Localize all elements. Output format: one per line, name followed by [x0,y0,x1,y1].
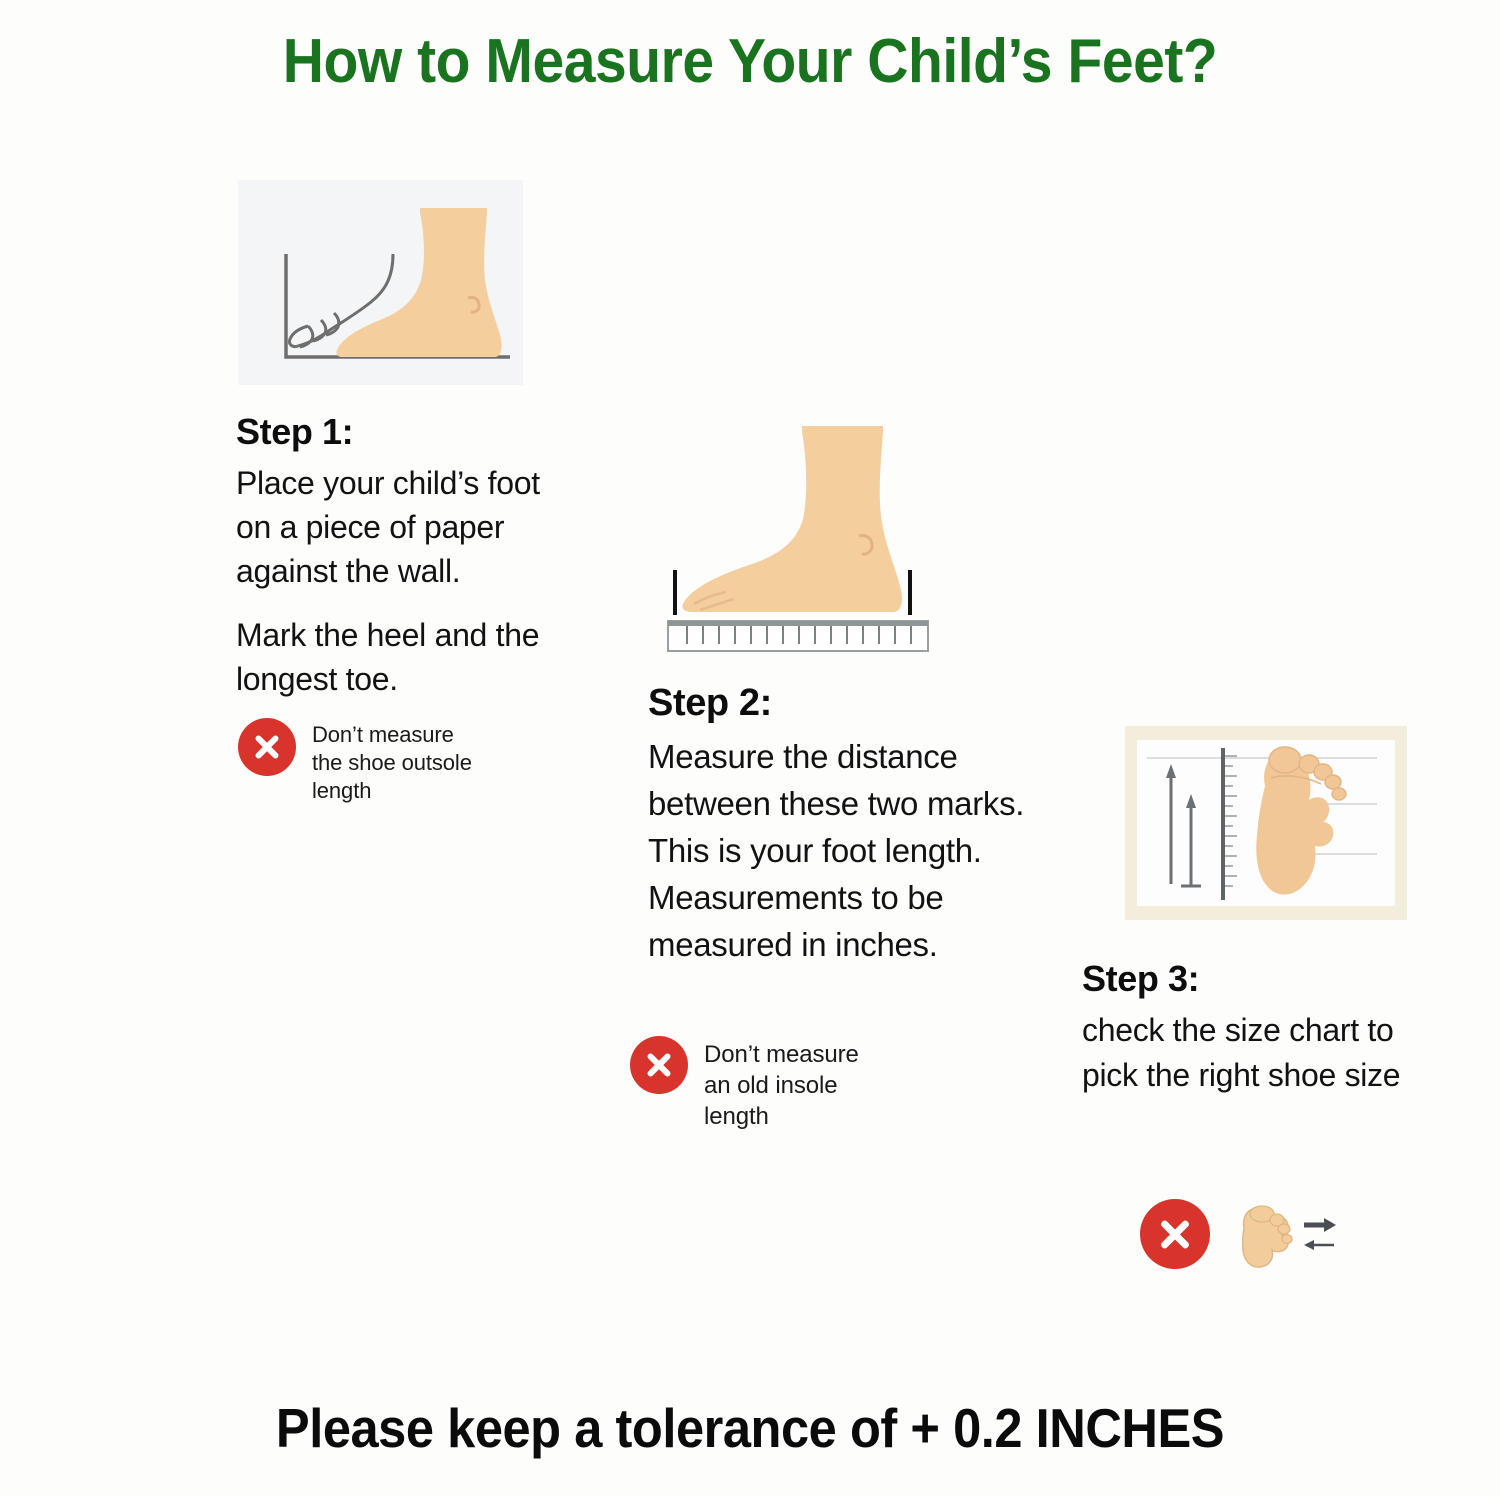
step-2-body: Measure the distance between these two m… [648,733,1078,968]
red-x-circle-icon [1140,1199,1210,1269]
warning-foot-arrows [1140,1198,1342,1270]
step-3-block: Step 3: check the size chart to pick the… [1082,726,1412,1098]
step-3-body: check the size chart to pick the right s… [1082,1008,1412,1098]
step-1-heading: Step 1: [236,411,556,453]
step-2-block: Step 2: Measure the distance between the… [648,418,1078,968]
step-1-body: Place your child’s foot on a piece of pa… [236,461,556,701]
step-2-illustration [654,418,944,658]
step-1-paragraph-2: Mark the heel and the longest toe. [236,613,556,701]
warning-line: Don’t measure [312,721,472,749]
footprint-sole-with-vertical-ruler-icon [1125,726,1407,920]
warning-old-insole-text: Don’t measure an old insole length [704,1036,859,1132]
step-1-paragraph-1: Place your child’s foot on a piece of pa… [236,461,556,593]
red-x-circle-icon [630,1036,688,1094]
page-title: How to Measure Your Child’s Feet? [60,26,1440,97]
step-3-heading: Step 3: [1082,958,1412,1000]
tolerance-note: Please keep a tolerance of + 0.2 INCHES [60,1396,1440,1460]
warning-shoe-outsole-text: Don’t measure the shoe outsole length [312,718,472,805]
warning-line: an old insole [704,1070,859,1101]
red-x-circle-icon [238,718,296,776]
infographic-page: How to Measure Your Child’s Feet? Step 1… [0,0,1500,1496]
foot-side-view-with-ruler-icon [654,418,944,658]
warning-line: Don’t measure [704,1039,859,1070]
foot-side-view-against-wall-icon [238,180,523,385]
step-2-heading: Step 2: [648,682,1078,725]
step-1-illustration [238,180,523,385]
step-2-paragraph-1: Measure the distance between these two m… [648,733,1078,968]
step-1-block: Step 1: Place your child’s foot on a pie… [236,180,556,701]
warning-line: the shoe outsole [312,749,472,777]
warning-line: length [704,1101,859,1132]
step-3-illustration [1125,726,1407,920]
warning-shoe-outsole: Don’t measure the shoe outsole length [238,718,472,805]
foot-with-arrows-icon [1232,1198,1342,1270]
warning-old-insole: Don’t measure an old insole length [630,1036,859,1132]
warning-line: length [312,777,472,805]
step-3-paragraph-1: check the size chart to pick the right s… [1082,1008,1412,1098]
